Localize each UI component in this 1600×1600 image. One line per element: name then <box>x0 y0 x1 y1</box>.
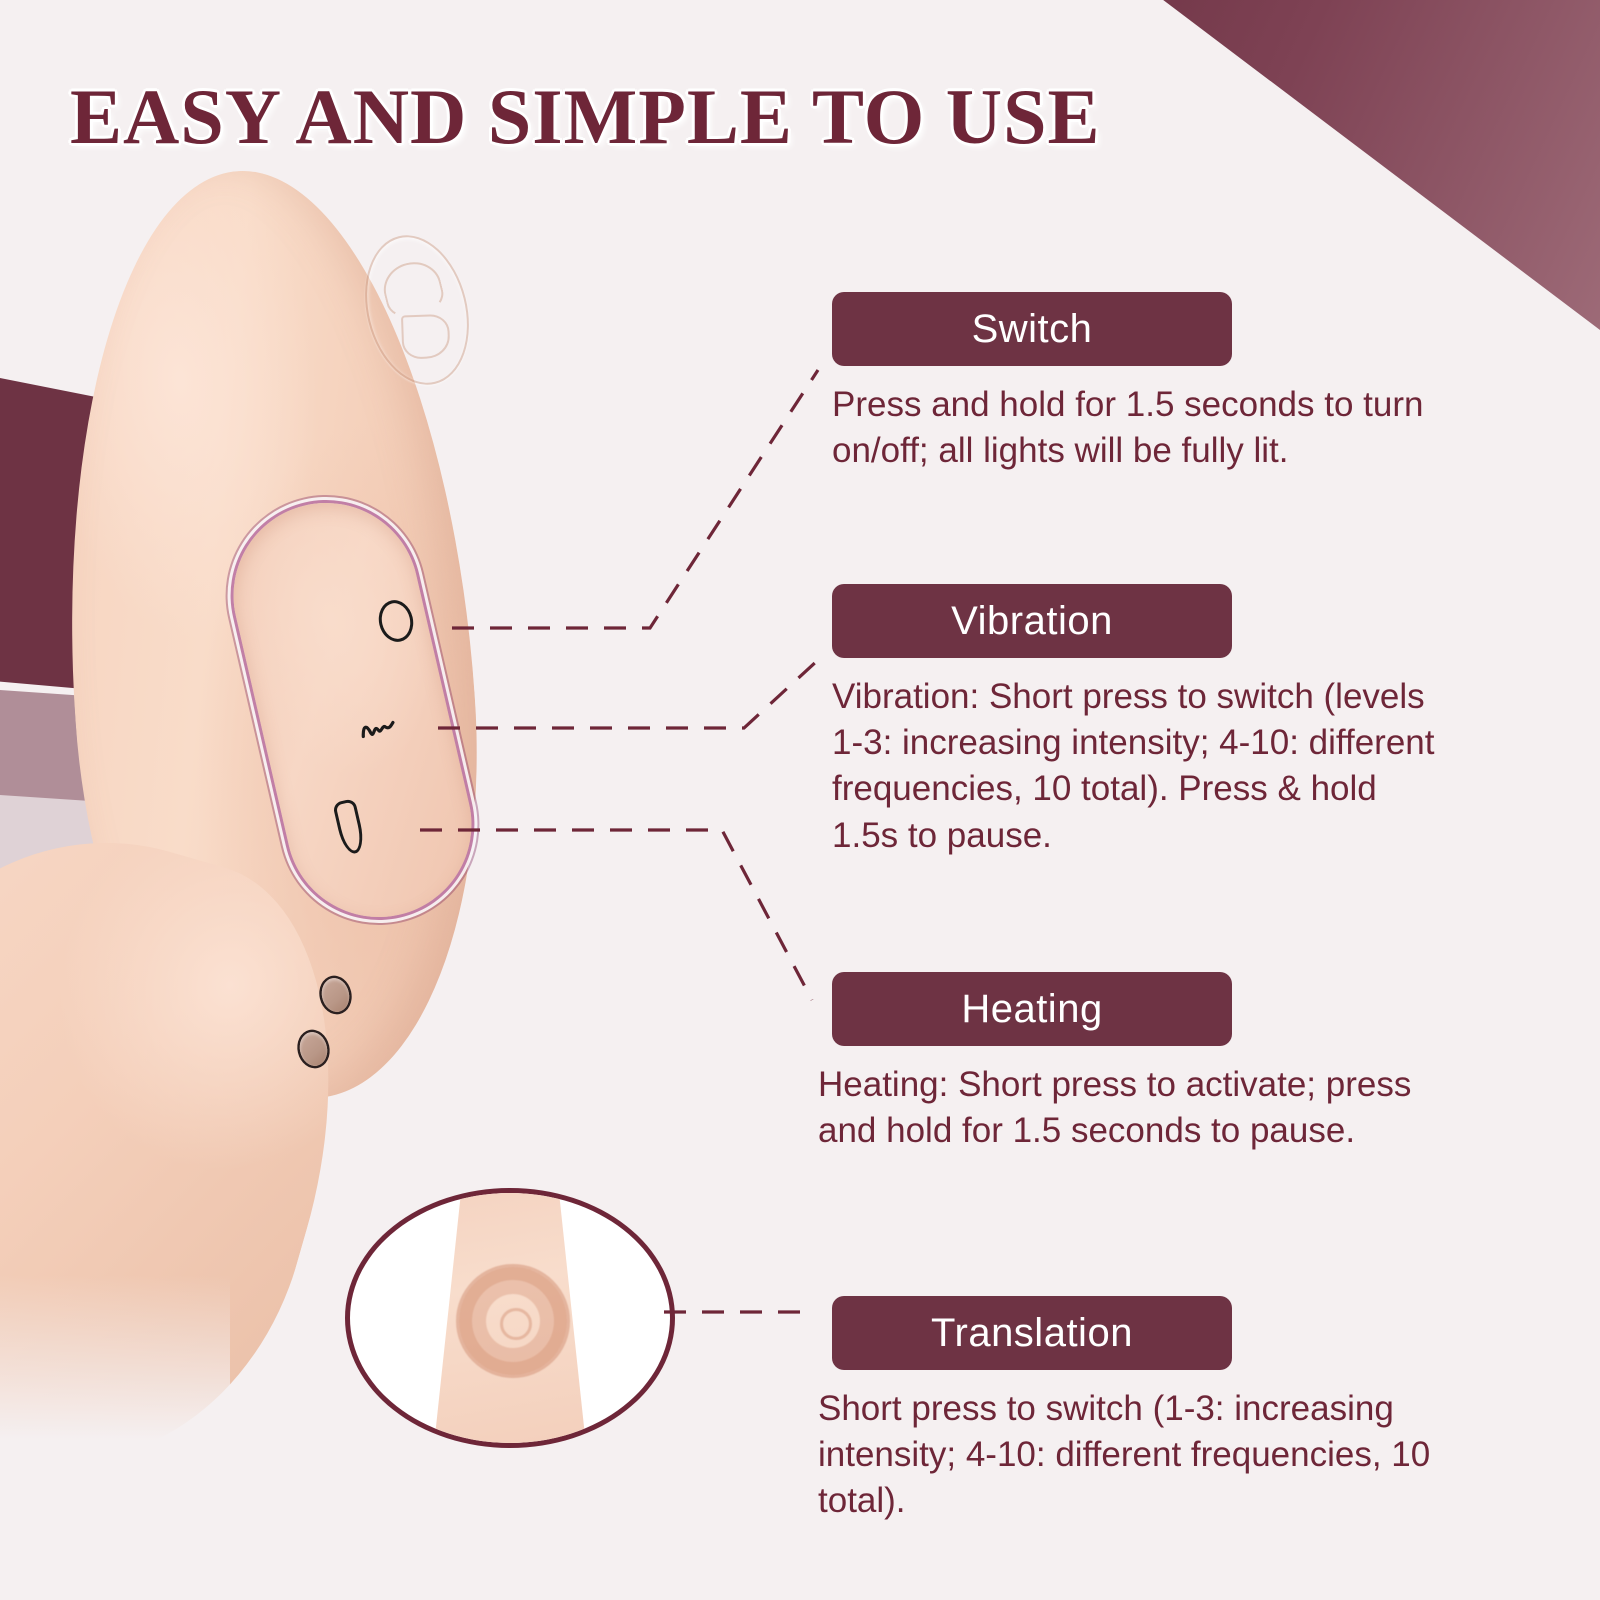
left-band-pale <box>0 795 300 905</box>
connector-heating <box>420 830 812 1000</box>
product-body <box>38 157 502 1113</box>
tail-fade-overlay <box>0 1275 230 1505</box>
description-heating: Heating: Short press to activate; press … <box>810 1062 1438 1154</box>
magnifier-callout <box>345 1188 675 1448</box>
callout-vibration: Vibration Vibration: Short press to swit… <box>832 584 1452 859</box>
page-title: EASY AND SIMPLE TO USE <box>70 72 1101 162</box>
thermometer-icon <box>332 798 367 856</box>
callout-switch: Switch Press and hold for 1.5 seconds to… <box>832 292 1452 474</box>
description-switch: Press and hold for 1.5 seconds to turn o… <box>832 382 1452 474</box>
left-band-dark <box>0 378 300 708</box>
badge-vibration[interactable]: Vibration <box>832 584 1232 658</box>
callout-translation: Translation Short press to switch (1-3: … <box>810 1296 1438 1525</box>
brand-emblem-icon <box>350 224 484 396</box>
charging-contact <box>319 975 353 1014</box>
infographic-canvas: EASY AND SIMPLE TO USE Switch <box>0 0 1600 1600</box>
control-panel <box>215 485 490 936</box>
badge-heating[interactable]: Heating <box>832 972 1232 1046</box>
connector-switch <box>452 370 818 628</box>
connector-vibration <box>438 660 818 728</box>
description-vibration: Vibration: Short press to switch (levels… <box>832 674 1452 859</box>
badge-switch[interactable]: Switch <box>832 292 1232 366</box>
concentric-rings-icon <box>456 1264 570 1378</box>
charging-contact <box>297 1029 331 1068</box>
top-right-diagonal-band <box>1040 0 1600 330</box>
badge-translation[interactable]: Translation <box>832 1296 1232 1370</box>
power-circle-icon <box>375 597 418 646</box>
callout-heating: Heating Heating: Short press to activate… <box>810 972 1438 1154</box>
wave-icon <box>358 716 397 742</box>
product-tail <box>0 787 396 1513</box>
left-band-mauve <box>0 690 290 815</box>
description-translation: Short press to switch (1-3: increasing i… <box>810 1386 1438 1525</box>
